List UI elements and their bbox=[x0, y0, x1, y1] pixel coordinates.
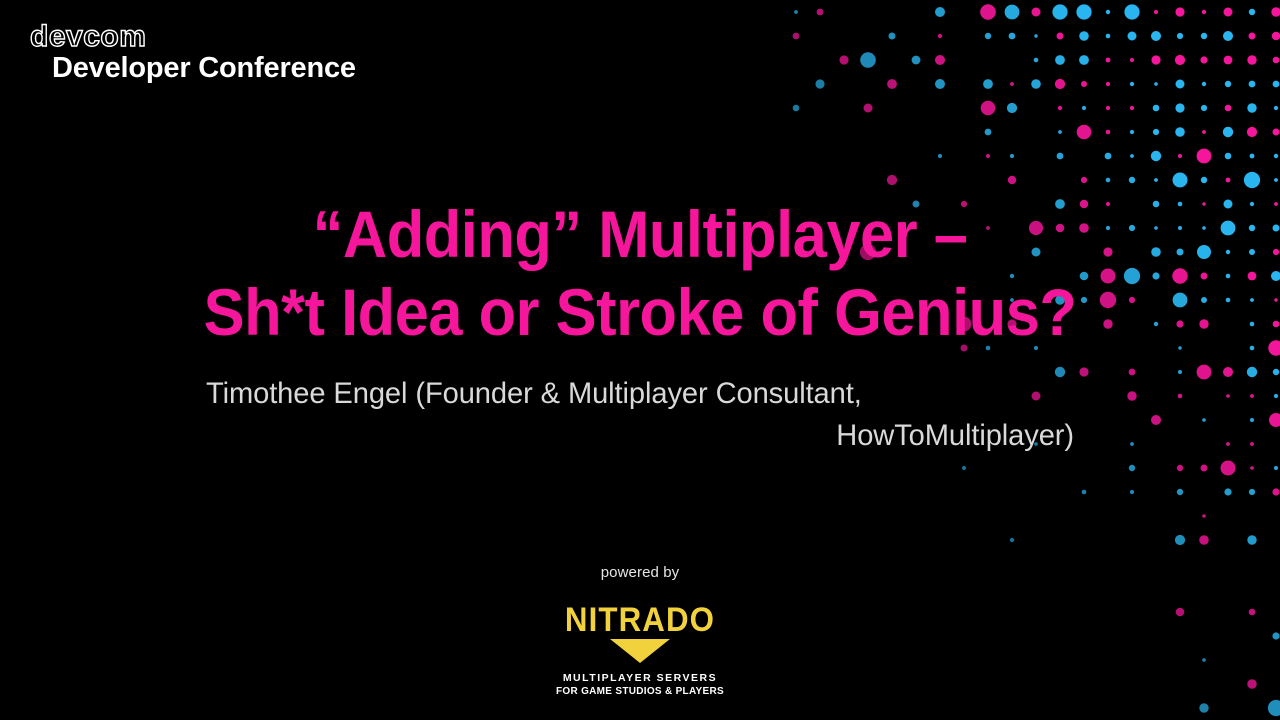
nitrado-wordmark: NITRADO bbox=[563, 603, 718, 637]
title-line-2: Sh*t Idea or Stroke of Genius? bbox=[45, 274, 1235, 352]
speaker-credit-line-2: HowToMultiplayer) bbox=[232, 418, 1074, 454]
devcom-logo: devcom Developer Conference bbox=[28, 22, 356, 83]
presentation-slide: devcom Developer Conference “Adding” Mul… bbox=[0, 0, 1280, 720]
devcom-subtitle-wordmark: Developer Conference bbox=[28, 53, 356, 83]
title-line-1: “Adding” Multiplayer – bbox=[45, 196, 1235, 274]
sponsor-block: powered by NITRADO MULTIPLAYER SERVERS F… bbox=[0, 564, 1280, 699]
nitrado-triangle-icon bbox=[610, 639, 670, 663]
nitrado-tagline-line-1: MULTIPLAYER SERVERS bbox=[556, 672, 724, 685]
powered-by-label: powered by bbox=[0, 564, 1280, 581]
nitrado-logo: NITRADO MULTIPLAYER SERVERS FOR GAME STU… bbox=[556, 603, 724, 699]
title-heading: “Adding” Multiplayer – Sh*t Idea or Stro… bbox=[45, 196, 1235, 352]
speaker-credit-line-1: Timothee Engel (Founder & Multiplayer Co… bbox=[206, 376, 1048, 412]
slide-title: “Adding” Multiplayer – Sh*t Idea or Stro… bbox=[0, 196, 1280, 352]
devcom-wordmark: devcom bbox=[28, 22, 356, 52]
nitrado-tagline-line-2: FOR GAME STUDIOS & PLAYERS bbox=[556, 686, 724, 699]
speaker-credit: Timothee Engel (Founder & Multiplayer Co… bbox=[206, 376, 1074, 454]
